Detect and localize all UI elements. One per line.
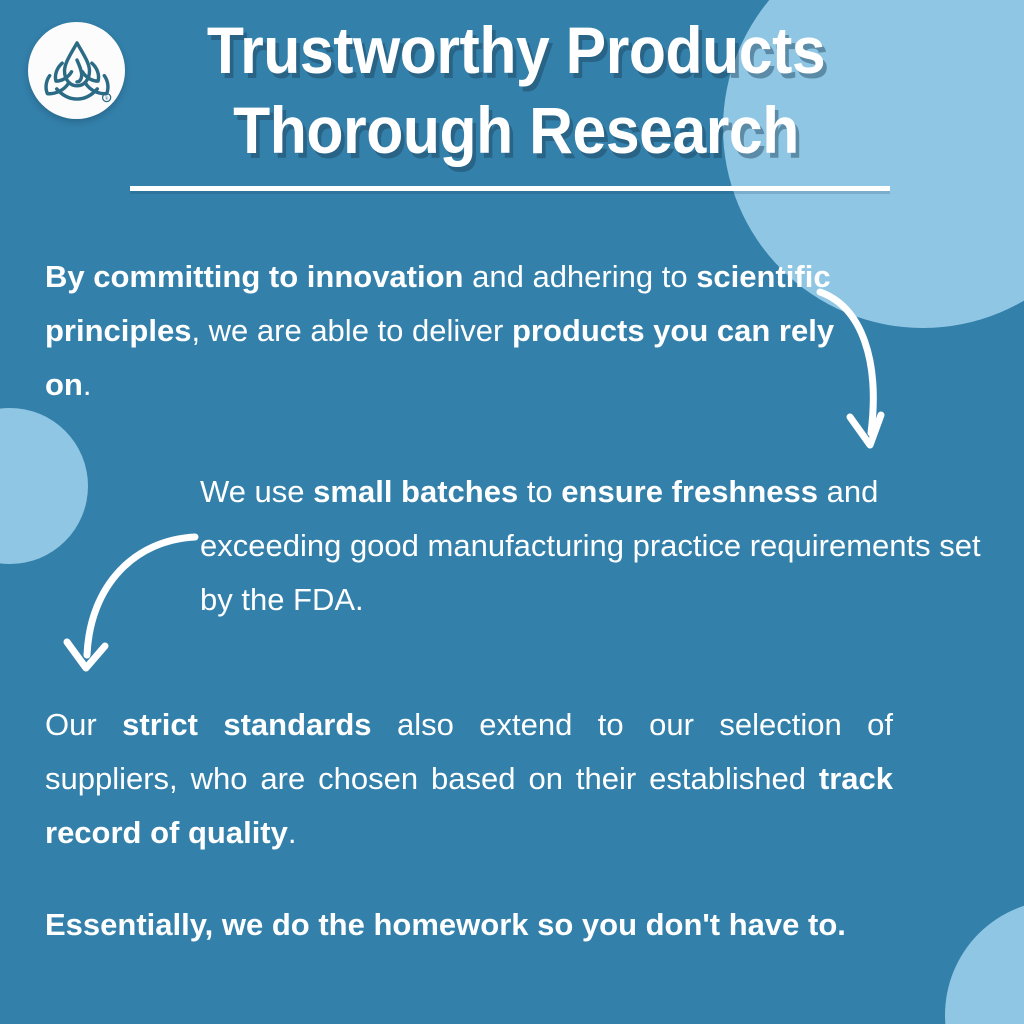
paragraph-small-batches: We use small batches to ensure freshness…: [200, 465, 1000, 627]
poster-title: Trustworthy Products Thorough Research: [130, 10, 902, 170]
lotus-flame-logo-icon: ®: [38, 32, 116, 110]
paragraph-innovation: By committing to innovation and adhering…: [45, 250, 845, 412]
svg-text:®: ®: [104, 96, 108, 102]
curved-arrow-down-left-icon: [55, 520, 205, 690]
poster-header: ® Trustworthy Products Thorough Research: [0, 0, 1024, 210]
paragraph-strict-standards: Our strict standards also extend to our …: [45, 698, 893, 860]
title-underline-rule: [130, 186, 890, 191]
title-line-2: Thorough Research: [161, 90, 871, 170]
brand-logo: ®: [28, 22, 125, 119]
decorative-circle-left: [0, 408, 88, 564]
poster-canvas: ® Trustworthy Products Thorough Research…: [0, 0, 1024, 1024]
paragraph-closing-statement: Essentially, we do the homework so you d…: [45, 898, 995, 952]
title-line-1: Trustworthy Products: [161, 10, 871, 90]
